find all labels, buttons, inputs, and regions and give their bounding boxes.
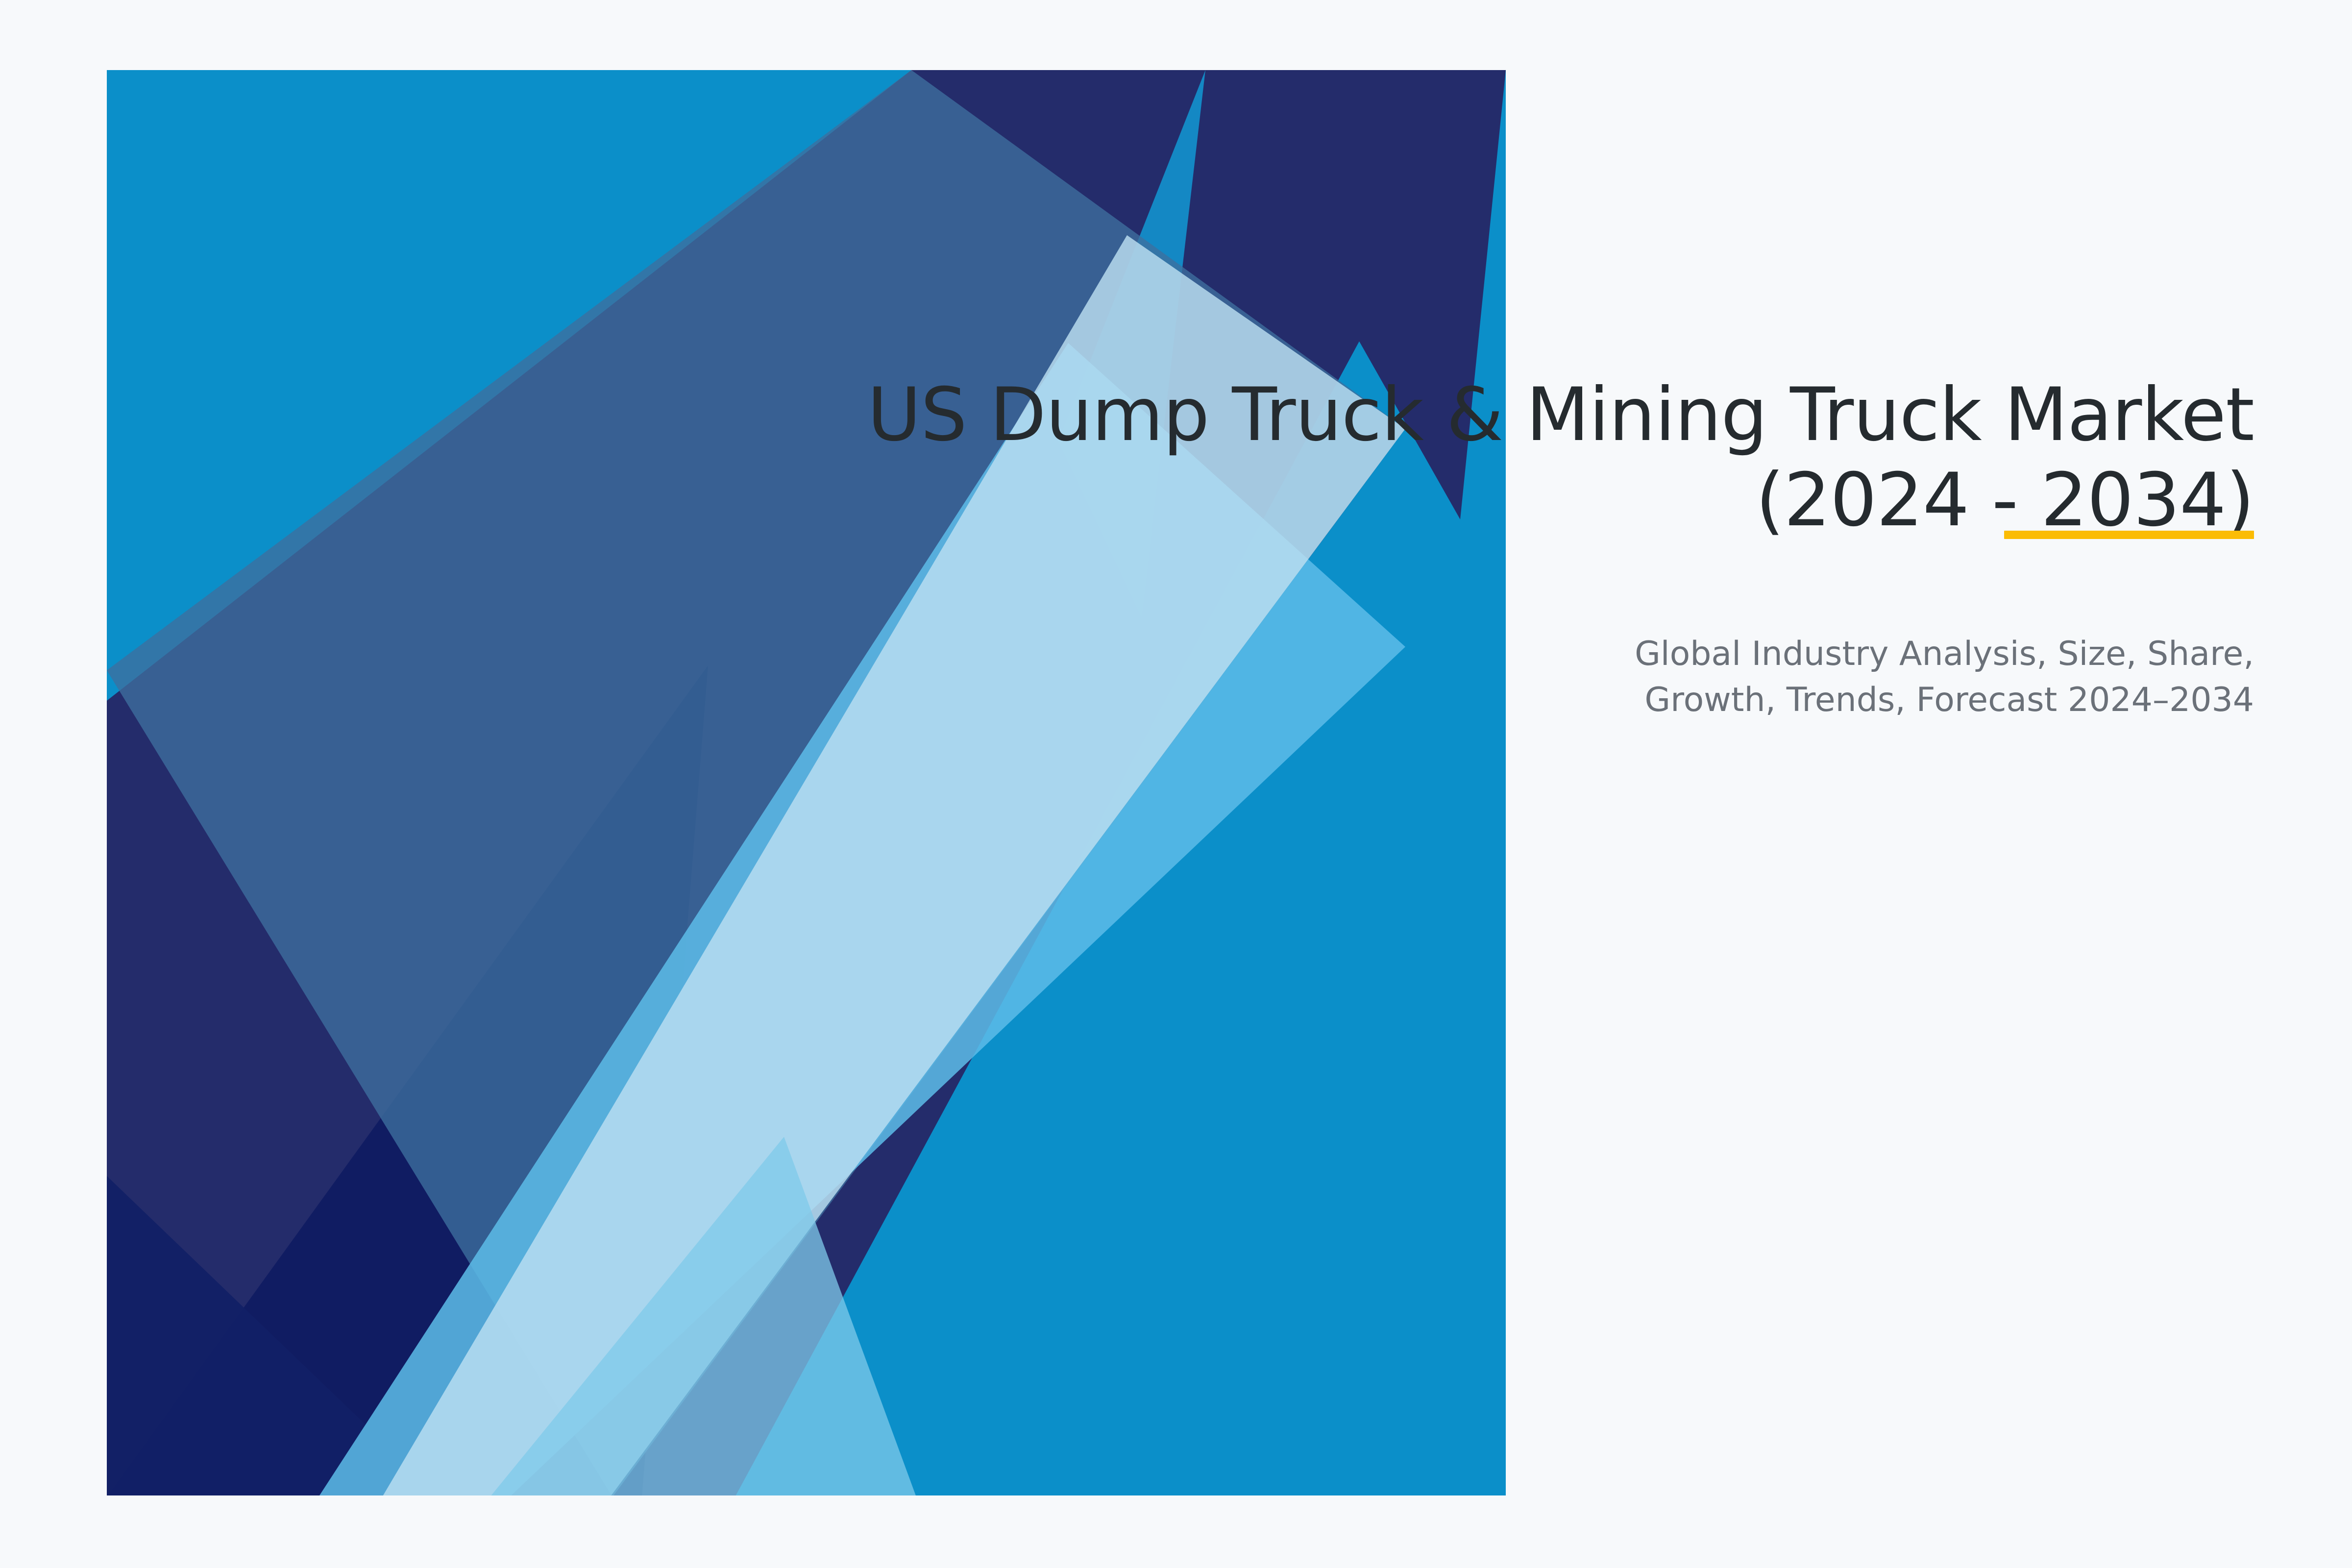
shape-slate-quad [107,70,1405,1497]
title-text-block: US Dump Truck & Mining Truck Market (202… [784,372,2254,723]
shape-sky-bottom-accent [490,1137,916,1497]
subtitle-line-2: Growth, Trends, Forecast 2024–2034 [784,677,2254,723]
abstract-geometric-artwork [0,0,2352,1568]
title-accent-underline [2004,531,2254,539]
page-title-line-1: US Dump Truck & Mining Truck Market [784,372,2254,458]
shape-cyan-base [107,70,1508,1498]
page-title-line-2: (2024 - 2034) [784,458,2254,543]
shape-navy-top-right [107,70,1506,1497]
subtitle-line-1: Global Industry Analysis, Size, Share, [784,631,2254,677]
shape-dark-navy-wedge [107,665,708,1497]
shape-dark-navy-bottom [107,1176,441,1497]
title-slide: US Dump Truck & Mining Truck Market (202… [0,0,2352,1568]
page-subtitle: Global Industry Analysis, Size, Share, G… [784,631,2254,723]
